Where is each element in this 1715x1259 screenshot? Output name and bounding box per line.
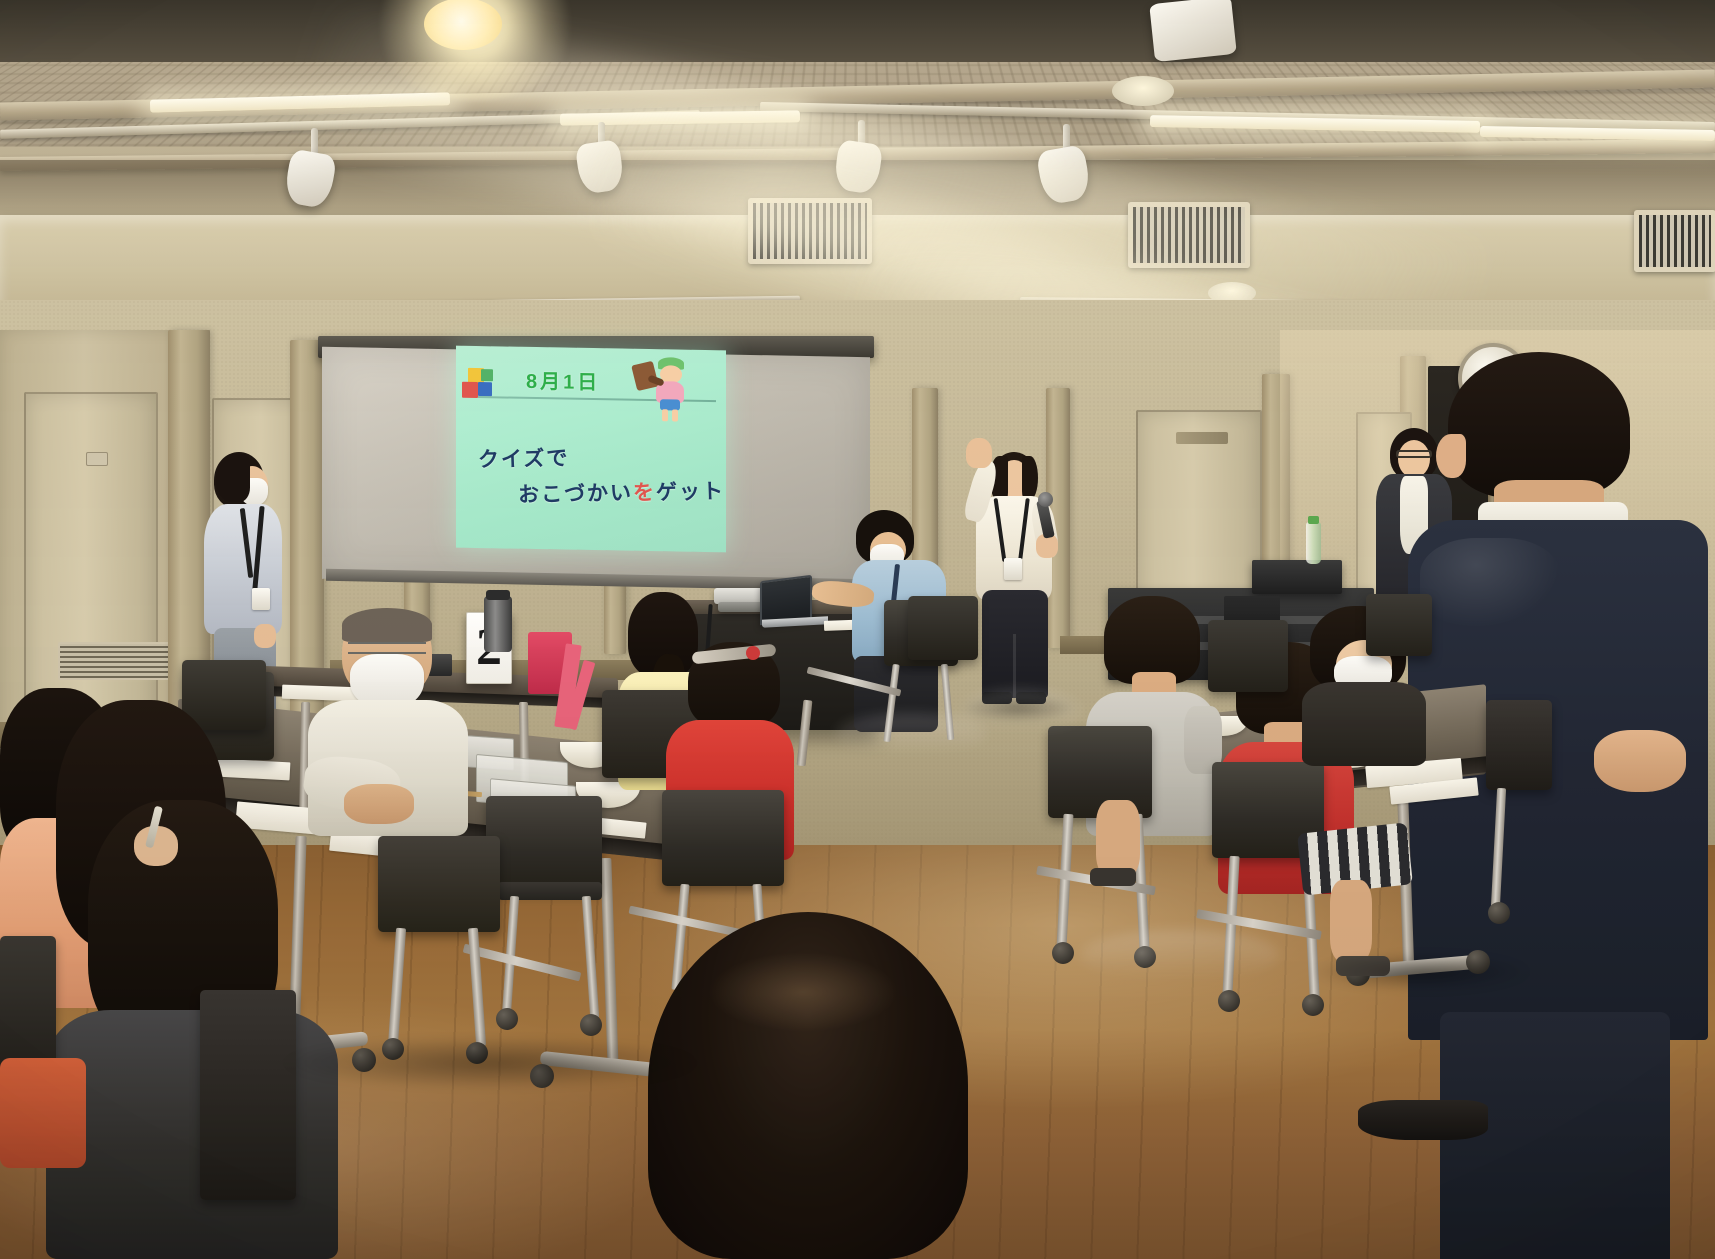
recessed-ceiling-light-1 <box>1112 76 1174 106</box>
door-right-sign <box>1176 432 1228 444</box>
floor-reflection-2 <box>836 714 986 754</box>
floor-reflection-3 <box>1080 930 1280 980</box>
photo-scene: 8月1日 クイズで おこづかいをゲット！ <box>0 0 1715 1259</box>
slide-date-text: 8月1日 <box>526 365 600 395</box>
suit-man-hair <box>1448 352 1630 498</box>
presenter-trouser-split <box>1013 634 1016 698</box>
slide-line2-group: おこづかいをゲット！ <box>518 475 726 509</box>
foreground-hair-shine <box>708 952 898 1032</box>
chair-caster-empty-left-2 <box>580 1014 602 1036</box>
slide-logo-square-blue <box>478 382 492 396</box>
slide-logo-square-red <box>462 382 478 398</box>
bottle-cap-av-cart <box>1308 516 1319 524</box>
chair-caster-boy-red-2 <box>1302 994 1324 1016</box>
presenter-id-card <box>1004 558 1022 580</box>
boy-grey-sandal <box>1090 868 1136 886</box>
chair-empty-left-1[interactable] <box>486 796 602 890</box>
floor-shadow-right-table <box>1310 952 1530 992</box>
chair-empty-left-4[interactable] <box>908 596 978 660</box>
chair-caster-boy-grey-1 <box>1052 942 1074 964</box>
hvac-grille-3 <box>1634 210 1715 272</box>
floor-shadow-left-table <box>280 1036 700 1090</box>
masked-man-hair <box>342 608 432 642</box>
suit-man-hands <box>1594 730 1686 792</box>
floor-shadow-presenter <box>958 694 1078 722</box>
slide-clipart-leg-right <box>672 409 678 421</box>
slide-line2-tail: ゲット！ <box>656 480 726 505</box>
masked-man-glasses <box>348 642 426 654</box>
staff-left-hair-front <box>216 454 250 502</box>
projected-slide: 8月1日 クイズで おこづかいをゲット！ <box>456 346 726 553</box>
ceiling-band-upper <box>0 0 1715 62</box>
person-presenter <box>956 438 1066 708</box>
staff-left-hand <box>254 624 276 648</box>
masked-man-hands <box>344 784 414 824</box>
chair-caster-boy-red-1 <box>1218 990 1240 1012</box>
slide-line2-particle: を <box>633 481 657 504</box>
staff-left-id-card <box>252 588 270 610</box>
microphone-head <box>1038 492 1053 507</box>
boy-grey-leg <box>1096 800 1140 878</box>
person-woman-charcoal-front <box>46 800 346 1259</box>
slide-clipart-leg-left <box>662 409 668 421</box>
slide-clipart-child <box>634 357 696 424</box>
chair-empty-left-2[interactable] <box>378 836 500 932</box>
person-foreground-head <box>648 912 968 1259</box>
wall-vent-left <box>58 642 170 680</box>
chair-caster-empty-right-3 <box>1488 902 1510 924</box>
chair-child-red-left[interactable] <box>662 790 784 886</box>
thermos-cap <box>486 590 510 600</box>
boy-grey-hair <box>1104 596 1200 684</box>
slide-line2-main: おこづかい <box>518 482 634 507</box>
suit-man-ear <box>1436 434 1466 478</box>
chair-caster-empty-left-1 <box>496 1008 518 1030</box>
child-red-headband-bead <box>746 646 760 660</box>
spotlight-head-5 <box>1149 0 1237 62</box>
presenter-raised-hand <box>966 438 992 468</box>
suit-man-shoulder-highlight <box>1420 538 1560 628</box>
bag-foreground-left <box>0 1058 86 1168</box>
boy-red-leg <box>1330 880 1372 962</box>
bottle-on-av-cart <box>1306 522 1321 564</box>
hvac-grille-1 <box>748 198 872 264</box>
presenter-hair-side-right <box>1022 456 1038 500</box>
slide-line1-text: クイズで <box>478 442 570 474</box>
ceiling-downlight-bulb <box>424 0 502 50</box>
wall-outlet-left <box>86 452 108 466</box>
thermos-flask <box>484 596 512 652</box>
suit-man-shoe <box>1358 1100 1488 1140</box>
hvac-grille-2 <box>1128 202 1250 268</box>
chair-empty-right-3[interactable] <box>1486 700 1552 790</box>
av-equipment-box <box>1252 560 1342 594</box>
chair-empty-right-2[interactable] <box>1366 594 1432 656</box>
masked-woman-top <box>1302 682 1426 766</box>
slide-logo-square-green <box>481 369 493 381</box>
chair-empty-right-1[interactable] <box>1208 620 1288 692</box>
chair-front-left-2[interactable] <box>200 990 296 1200</box>
